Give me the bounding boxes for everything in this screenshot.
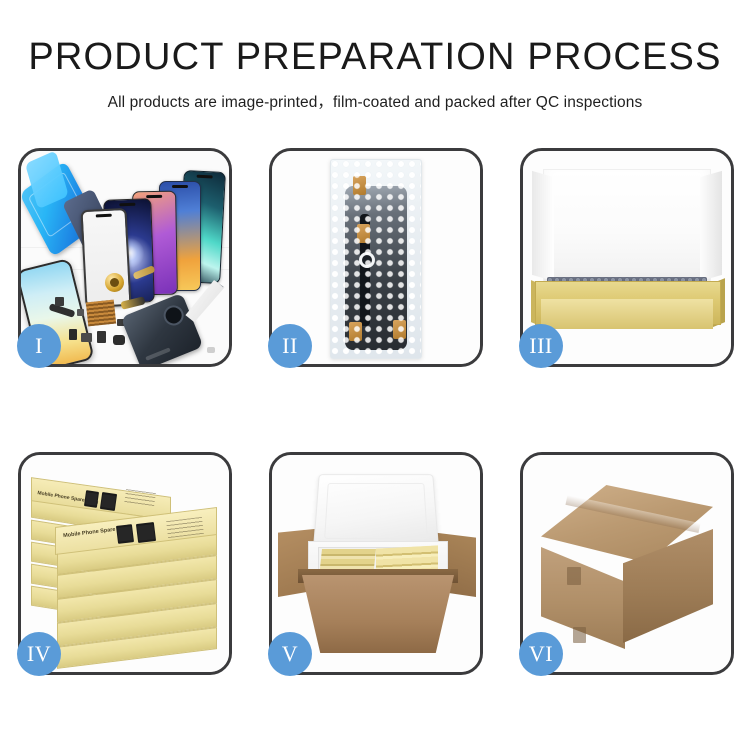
bubble-wrap-bag <box>330 159 422 359</box>
process-step-panel-6[interactable]: VI <box>520 452 734 675</box>
carton-body <box>302 575 454 653</box>
process-step-panel-4[interactable]: Mobile Phone Spare Parts Mobile Phone Sp… <box>18 452 232 675</box>
white-box-lid <box>543 169 711 285</box>
step-badge-1: I <box>17 324 61 368</box>
tray-front-face <box>541 299 713 329</box>
step-badge-3: III <box>519 324 563 368</box>
process-step-panel-3[interactable]: III <box>520 148 734 367</box>
process-step-panel-5[interactable]: V <box>269 452 483 675</box>
speaker-coil-part <box>105 273 124 292</box>
process-step-panel-1[interactable]: I <box>18 148 232 367</box>
step-badge-6: VI <box>519 632 563 676</box>
copper-mesh-part <box>86 300 116 327</box>
step-badge-5: V <box>268 632 312 676</box>
foam-box-lid <box>313 474 439 549</box>
product-preparation-infographic: PRODUCT PREPARATION PROCESS All products… <box>0 0 750 750</box>
page-subtitle: All products are image-printed，film-coat… <box>0 90 750 112</box>
carton-tab-lower <box>573 627 586 643</box>
phone-screen-1-glass <box>80 208 131 308</box>
process-step-panel-2[interactable]: II <box>269 148 483 367</box>
page-title: PRODUCT PREPARATION PROCESS <box>0 38 750 78</box>
step-badge-2: II <box>268 324 312 368</box>
carton-tab-upper <box>567 567 581 585</box>
process-step-grid: I II <box>18 148 734 675</box>
bubble-texture-overlay <box>331 160 421 358</box>
header: PRODUCT PREPARATION PROCESS All products… <box>0 0 750 112</box>
step-badge-4: IV <box>17 632 61 676</box>
